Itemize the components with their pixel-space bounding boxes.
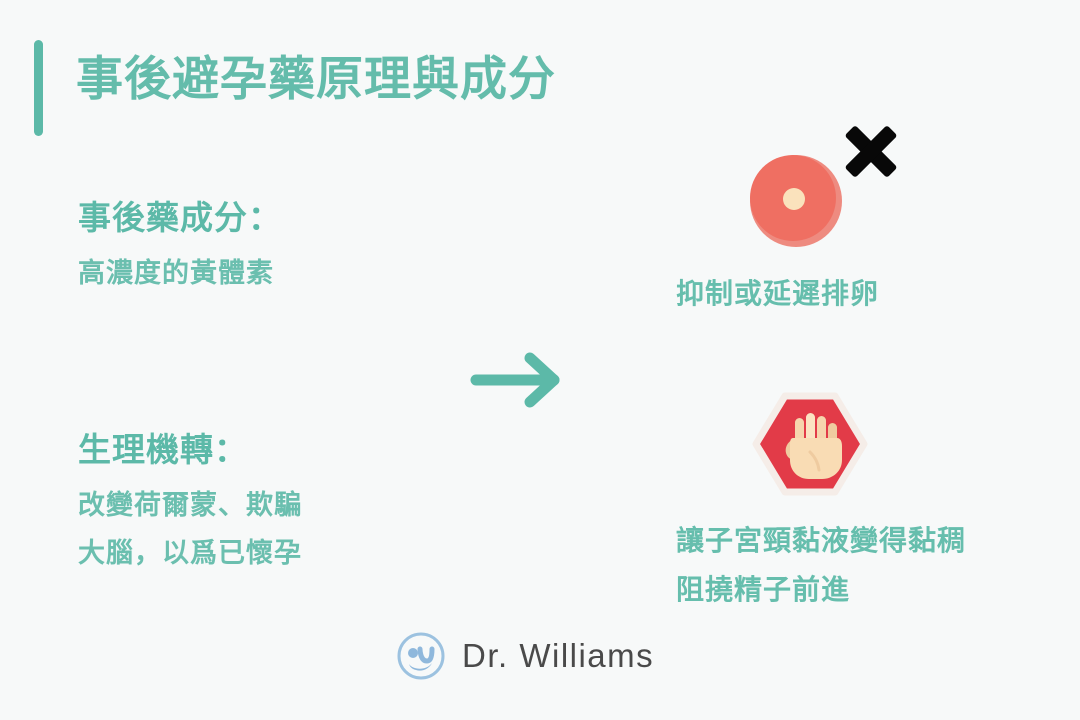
right-label-ovulation: 抑制或延遲排卵	[676, 272, 879, 312]
body-line: 高濃度的黃體素	[78, 249, 478, 297]
x-mark-icon	[838, 118, 904, 184]
left-block-heading: 生理機轉：	[78, 428, 498, 473]
brand-name: Dr. Williams	[462, 637, 654, 675]
left-block-heading: 事後藥成分：	[78, 196, 478, 241]
body-line: 改變荷爾蒙、欺騙	[78, 481, 498, 529]
label-line: 阻撓精子前進	[676, 565, 966, 614]
stop-hand-icon	[752, 392, 868, 496]
left-block-ingredients: 事後藥成分： 高濃度的黃體素	[78, 196, 478, 297]
ovum-nucleus	[783, 188, 805, 210]
page-title: 事後避孕藥原理與成分	[76, 52, 556, 106]
left-block-body: 改變荷爾蒙、欺騙 大腦，以爲已懷孕	[78, 481, 498, 577]
footer-brand: Dr. Williams	[396, 631, 654, 681]
right-label-cervical-mucus: 讓子宮頸黏液變得黏稠 阻撓精子前進	[676, 516, 966, 614]
title-accent-bar	[34, 40, 43, 136]
left-block-body: 高濃度的黃體素	[78, 249, 478, 297]
arrow-right-icon	[468, 352, 568, 408]
dr-williams-logo-icon	[396, 631, 446, 681]
infographic-canvas: 事後避孕藥原理與成分 事後藥成分： 高濃度的黃體素 生理機轉： 改變荷爾蒙、欺騙…	[0, 0, 1080, 720]
label-line: 讓子宮頸黏液變得黏稠	[676, 516, 966, 565]
ovum-icon	[750, 155, 842, 247]
left-block-mechanism: 生理機轉： 改變荷爾蒙、欺騙 大腦，以爲已懷孕	[78, 428, 498, 577]
body-line: 大腦，以爲已懷孕	[78, 529, 498, 577]
